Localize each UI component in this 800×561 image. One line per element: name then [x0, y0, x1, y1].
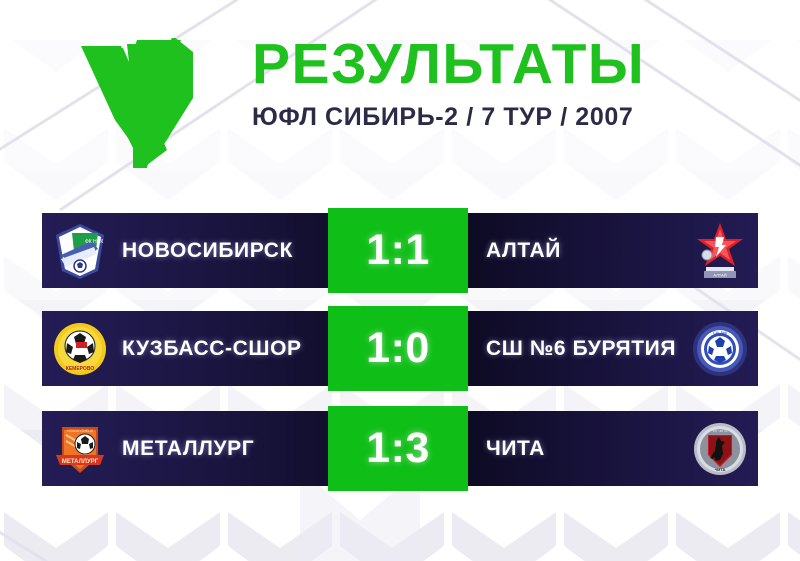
home-crest: ФК НСК: [52, 221, 108, 281]
away-crest: АЛТАЙ: [692, 221, 748, 281]
results-graphic: РЕЗУЛЬТАТЫ ЮФЛ СИБИРЬ-2 / 7 ТУР / 2007 Ф…: [0, 0, 800, 561]
score-box[interactable]: 1:0: [328, 306, 468, 391]
chita-dog-crest-icon: ФК ЧИТА ЧИТА: [692, 419, 748, 479]
table-row[interactable]: МЕТАЛЛУРГ НОВОКУЗНЕЦК МЕТАЛЛУРГ 1:3 ЧИТА: [42, 411, 758, 486]
away-crest: СШ №6: [692, 319, 748, 379]
buryatia-blue-ball-crest-icon: СШ №6: [692, 319, 748, 379]
svg-text:НОВОКУЗНЕЦК: НОВОКУЗНЕЦК: [67, 429, 94, 433]
kuzbass-yellow-ball-crest-icon: КЕМЕРОВО: [52, 319, 108, 379]
home-team-name: МЕТАЛЛУРГ: [122, 437, 254, 461]
svg-text:МЕТАЛЛУРГ: МЕТАЛЛУРГ: [62, 459, 99, 465]
table-row[interactable]: ФК НСК НОВОСИБИРСК 1:1 АЛТАЙ АЛТАЙ: [42, 213, 758, 288]
score-value: 1:1: [366, 229, 430, 272]
score-value: 1:0: [366, 327, 430, 370]
altai-red-star-crest-icon: АЛТАЙ: [692, 221, 748, 281]
home-team-name: НОВОСИБИРСК: [122, 239, 293, 263]
svg-text:АЛТАЙ: АЛТАЙ: [713, 272, 726, 277]
svg-text:СШ №6: СШ №6: [713, 330, 728, 335]
svg-text:ФК НСК: ФК НСК: [85, 239, 103, 245]
score-box[interactable]: 1:1: [328, 208, 468, 293]
table-row[interactable]: КЕМЕРОВО КУЗБАСС-СШОР 1:0 СШ №6 БУРЯТИЯ: [42, 311, 758, 386]
score-box[interactable]: 1:3: [328, 406, 468, 491]
svg-text:ФК ЧИТА: ФК ЧИТА: [713, 429, 729, 433]
away-crest: ФК ЧИТА ЧИТА: [692, 419, 748, 479]
novosibirsk-shield-crest-icon: ФК НСК: [52, 221, 108, 281]
svg-text:ЧИТА: ЧИТА: [715, 467, 726, 472]
score-value: 1:3: [366, 427, 430, 470]
away-team-name: ЧИТА: [486, 437, 545, 461]
home-team-name: КУЗБАСС-СШОР: [122, 337, 302, 361]
home-crest: МЕТАЛЛУРГ НОВОКУЗНЕЦК: [52, 419, 108, 479]
results-list: ФК НСК НОВОСИБИРСК 1:1 АЛТАЙ АЛТАЙ: [0, 0, 800, 561]
svg-text:КЕМЕРОВО: КЕМЕРОВО: [66, 366, 95, 372]
away-team-name: АЛТАЙ: [486, 239, 561, 263]
home-crest: КЕМЕРОВО: [52, 319, 108, 379]
away-team-name: СШ №6 БУРЯТИЯ: [486, 337, 676, 361]
metallurg-orange-shield-crest-icon: МЕТАЛЛУРГ НОВОКУЗНЕЦК: [52, 419, 108, 479]
